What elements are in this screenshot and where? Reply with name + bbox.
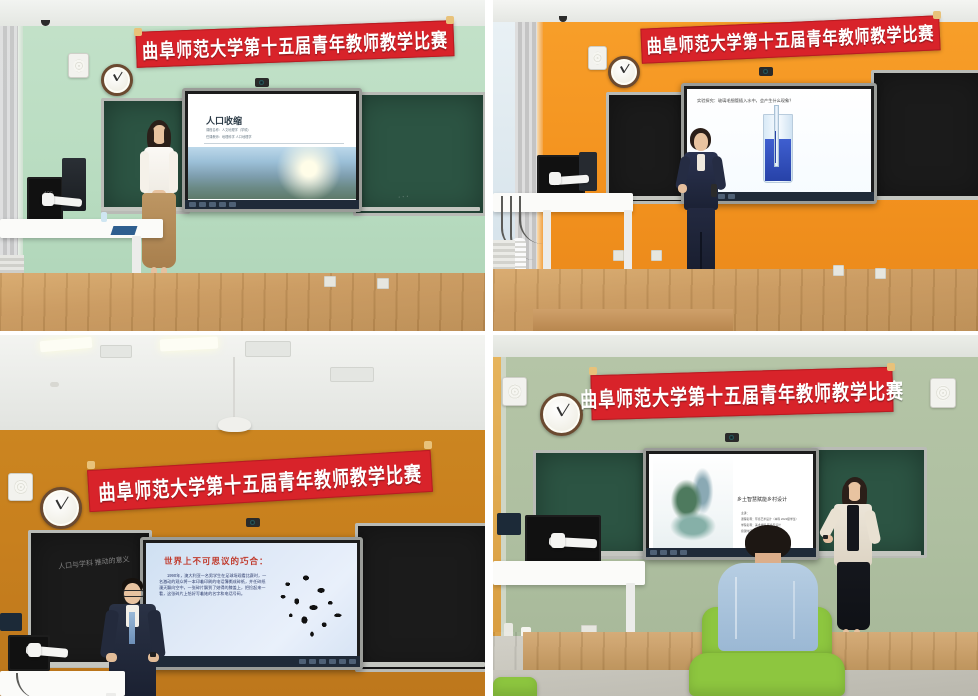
toolbar-icon-1[interactable] bbox=[650, 550, 657, 555]
wall-outlet-4 bbox=[875, 268, 886, 279]
slide-subtitle-2: 课程名称：环境艺术设计（本科 2022级学生） bbox=[741, 517, 798, 521]
wall-corner bbox=[18, 26, 23, 276]
wall-speaker-right bbox=[930, 378, 956, 408]
wall-outlet-3 bbox=[833, 265, 844, 276]
presenter-arm-right bbox=[169, 151, 178, 193]
banner-tie-left bbox=[134, 28, 142, 36]
slide-photo-landscape bbox=[188, 147, 356, 199]
banner-tie-right bbox=[887, 363, 895, 371]
toolbar-icon-2[interactable] bbox=[660, 550, 667, 555]
wall-outlet-1 bbox=[324, 276, 336, 287]
screen-toolbar[interactable] bbox=[143, 656, 360, 667]
ceiling-vent-3 bbox=[330, 367, 374, 382]
presenter-shirt bbox=[697, 154, 705, 171]
toolbar-icon-1[interactable] bbox=[299, 659, 306, 664]
audience-chair-seat[interactable] bbox=[689, 653, 845, 696]
screen-toolbar[interactable] bbox=[185, 200, 359, 209]
toolbar-icon-3[interactable] bbox=[209, 202, 216, 207]
slide-title: 乡土智慧赋能乡村设计 bbox=[737, 496, 787, 503]
presenter-glasses bbox=[123, 590, 144, 597]
chalk-writing-right: · · · bbox=[398, 192, 409, 201]
ceiling-vent-1 bbox=[100, 345, 132, 358]
wall-outlet-2 bbox=[377, 278, 389, 289]
slide-subtitle-2: 任课教师：地理科学 人口地理学 bbox=[206, 134, 252, 139]
panel-bottom-left[interactable]: 曲阜师范大学第十五届青年教师教学比赛 人口与学科 推动的意义 世界上不可思议的巧… bbox=[0, 335, 485, 696]
side-display bbox=[0, 613, 22, 631]
toolbar-icon-2[interactable] bbox=[199, 202, 206, 207]
side-display bbox=[497, 513, 521, 535]
wall-clock bbox=[540, 393, 583, 436]
banner-tie-left bbox=[87, 461, 95, 469]
presenter-clicker bbox=[150, 652, 156, 657]
floor-plank-lines bbox=[0, 273, 485, 331]
slide-subtitle-1: 课程名称：人文地理学（学硕） bbox=[206, 127, 251, 132]
event-banner: 曲阜师范大学第十五届青年教师教学比赛 bbox=[590, 367, 893, 420]
wall-speaker bbox=[8, 473, 33, 501]
panel-top-left[interactable]: 曲阜师范大学第十五届青年教师教学比赛 · · · 人口收缩 课程名称：人文地理学… bbox=[0, 0, 485, 331]
audience-member bbox=[693, 525, 841, 655]
slide-body: 1990年，澳大利亚一名男学生在足球场观看比赛时，一名激动的观众将一本印着印刷的… bbox=[159, 573, 267, 597]
toolbar-icon-4[interactable] bbox=[219, 202, 226, 207]
presenter-dress-opening bbox=[847, 505, 859, 551]
smart-screen[interactable]: 人口收缩 课程名称：人文地理学（学硕） 任课教师：地理科学 人口地理学 bbox=[182, 88, 362, 212]
banner-tie-right bbox=[933, 11, 941, 19]
secondary-chair[interactable] bbox=[493, 677, 537, 696]
photo-collage: 曲阜师范大学第十五届青年教师教学比赛 · · · 人口收缩 课程名称：人文地理学… bbox=[0, 0, 978, 700]
wall-outlet-2 bbox=[651, 250, 662, 261]
projector-rod bbox=[233, 357, 235, 419]
desk-folder bbox=[111, 226, 138, 235]
lectern-leg bbox=[106, 693, 116, 696]
ceiling-projector bbox=[218, 417, 251, 432]
slide-title: 世界上不可思议的巧合： bbox=[164, 555, 269, 567]
presenter-microphone bbox=[711, 184, 717, 197]
toolbar-icon-4[interactable] bbox=[680, 550, 687, 555]
smoke-detector bbox=[50, 382, 59, 387]
toolbar-icon-6[interactable] bbox=[349, 659, 356, 664]
lectern-desk bbox=[493, 561, 645, 585]
ceiling-camera bbox=[725, 433, 739, 442]
ceiling-camera bbox=[759, 67, 773, 76]
presenter-head bbox=[694, 133, 708, 151]
banner-tie-right bbox=[424, 441, 432, 449]
stage-platform bbox=[533, 309, 733, 331]
camera-arm-head bbox=[549, 172, 561, 185]
toolbar-icon-5[interactable] bbox=[229, 202, 236, 207]
slide-subtitle-1: 主讲： bbox=[741, 511, 749, 515]
wall-speaker-left bbox=[502, 377, 527, 406]
slide-tube-liquid bbox=[775, 131, 777, 163]
panel-top-right[interactable]: 曲阜师范大学第十五届青年教师教学比赛 实验探究：玻璃毛细管插入水中，会产生什么现… bbox=[493, 0, 978, 331]
camera-arm-head bbox=[551, 533, 565, 548]
audience-shirt bbox=[718, 563, 818, 651]
computer-tower bbox=[579, 152, 597, 191]
audience-shirt-fold bbox=[735, 577, 737, 639]
curtain bbox=[0, 26, 18, 281]
blackboard-right[interactable] bbox=[871, 70, 978, 200]
water-bottle bbox=[101, 212, 107, 222]
wall-outlet-1 bbox=[613, 250, 624, 261]
presenter-hand-left bbox=[106, 653, 117, 662]
camera-arm-head bbox=[42, 193, 54, 206]
presenter-skirt bbox=[837, 562, 870, 630]
wall-clock bbox=[101, 64, 133, 96]
presenter-tie bbox=[129, 612, 135, 644]
slide-ink-splatter bbox=[274, 567, 350, 645]
wall-clock bbox=[40, 487, 82, 529]
wall-speaker bbox=[588, 46, 607, 70]
panel-bottom-right[interactable]: 曲阜师范大学第十五届青年教师教学比赛 乡土智慧赋能乡村设计 主讲： 课程名称：环… bbox=[493, 335, 978, 696]
wall-clock bbox=[608, 56, 640, 88]
slide-divider bbox=[204, 143, 344, 144]
wall-speaker bbox=[68, 53, 89, 78]
toolbar-icon-5[interactable] bbox=[728, 194, 735, 199]
blackboard-right bbox=[353, 92, 485, 216]
toolbar-icon-1[interactable] bbox=[189, 202, 196, 207]
slide-prompt-text: 实验探究：玻璃毛细管插入水中，会产生什么现象？ bbox=[697, 98, 793, 104]
camera-arm-head bbox=[28, 643, 41, 657]
event-banner-text: 曲阜师范大学第十五届青年教师教学比赛 bbox=[580, 373, 905, 413]
toolbar-icon-4[interactable] bbox=[329, 659, 336, 664]
toolbar-icon-3[interactable] bbox=[670, 550, 677, 555]
ceiling-vent-2 bbox=[245, 341, 291, 357]
slide-surface: 世界上不可思议的巧合： 1990年，澳大利亚一名男学生在足球场观看比赛时，一名激… bbox=[146, 543, 357, 664]
blackboard-right[interactable] bbox=[355, 523, 485, 672]
banner-tie-left bbox=[589, 367, 597, 375]
banner-tie-right bbox=[446, 16, 454, 24]
toolbar-icon-3[interactable] bbox=[319, 659, 326, 664]
presenter-arm-left bbox=[140, 151, 149, 193]
slide-title: 人口收缩 bbox=[206, 114, 242, 127]
smart-screen[interactable]: 世界上不可思议的巧合： 1990年，澳大利亚一名男学生在足球场观看比赛时，一名激… bbox=[140, 537, 363, 670]
presenter-hand-left bbox=[678, 184, 687, 193]
ceiling bbox=[493, 335, 978, 357]
toolbar-icon-5[interactable] bbox=[339, 659, 346, 664]
ceiling-camera bbox=[255, 78, 269, 87]
slide-surface: 人口收缩 课程名称：人文地理学（学硕） 任课教师：地理科学 人口地理学 bbox=[188, 94, 356, 206]
toolbar-icon-2[interactable] bbox=[309, 659, 316, 664]
ceiling-camera bbox=[246, 518, 260, 527]
audience-shirt-fold-2 bbox=[793, 581, 795, 639]
